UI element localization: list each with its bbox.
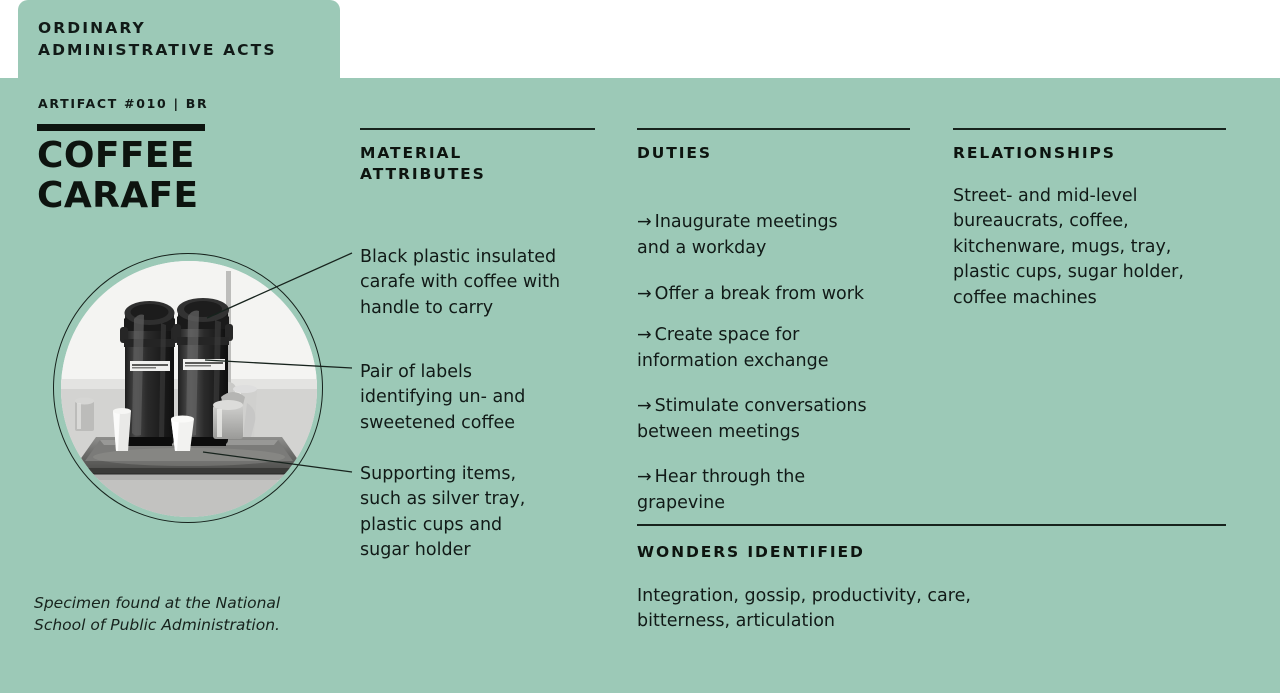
duty-item: →Hear through the grapevine — [637, 440, 937, 516]
artifact-id: ARTIFACT #010 | BR — [38, 96, 208, 111]
title-rule — [37, 124, 205, 131]
material-attribute-item: Pair of labels identifying un- and sweet… — [360, 360, 585, 436]
arrow-icon: → — [637, 212, 652, 232]
wonders-heading: WONDERS IDENTIFIED — [637, 542, 1237, 563]
artifact-photo — [53, 253, 325, 525]
duty-item: →Inaugurate meetings and a workday — [637, 185, 937, 261]
coffee-carafe-photo-illustration — [61, 261, 317, 517]
collection-title: ORDINARY ADMINISTRATIVE ACTS — [38, 17, 338, 62]
duty-text: Inaugurate meetings and a workday — [637, 212, 838, 257]
duty-text: Hear through the grapevine — [637, 467, 805, 512]
photo-clip — [61, 261, 317, 517]
page-title: COFFEE CARAFE — [37, 136, 337, 217]
photo-caption: Specimen found at the National School of… — [34, 592, 334, 636]
relationships-heading: RELATIONSHIPS — [953, 143, 1233, 164]
duty-item: →Stimulate conversations between meeting… — [637, 369, 937, 445]
material-attributes-heading: MATERIAL ATTRIBUTES — [360, 143, 600, 186]
duties-heading: DUTIES — [637, 143, 917, 164]
infographic-card: ORDINARY ADMINISTRATIVE ACTS ARTIFACT #0… — [0, 0, 1280, 693]
material-attribute-item: Black plastic insulated carafe with coff… — [360, 245, 585, 321]
relationships-body: Street- and mid-level bureaucrats, coffe… — [953, 184, 1238, 311]
duty-text: Create space for information exchange — [637, 325, 828, 370]
wonders-body: Integration, gossip, productivity, care,… — [637, 584, 1237, 635]
arrow-icon: → — [637, 396, 652, 416]
duty-item: →Create space for information exchange — [637, 298, 937, 374]
material-attributes-rule — [360, 128, 595, 130]
relationships-rule — [953, 128, 1226, 130]
material-attribute-item: Supporting items, such as silver tray, p… — [360, 462, 585, 564]
arrow-icon: → — [637, 325, 652, 345]
duties-rule — [637, 128, 910, 130]
arrow-icon: → — [637, 467, 652, 487]
duty-text: Stimulate conversations between meetings — [637, 396, 867, 441]
wonders-rule — [637, 524, 1226, 526]
